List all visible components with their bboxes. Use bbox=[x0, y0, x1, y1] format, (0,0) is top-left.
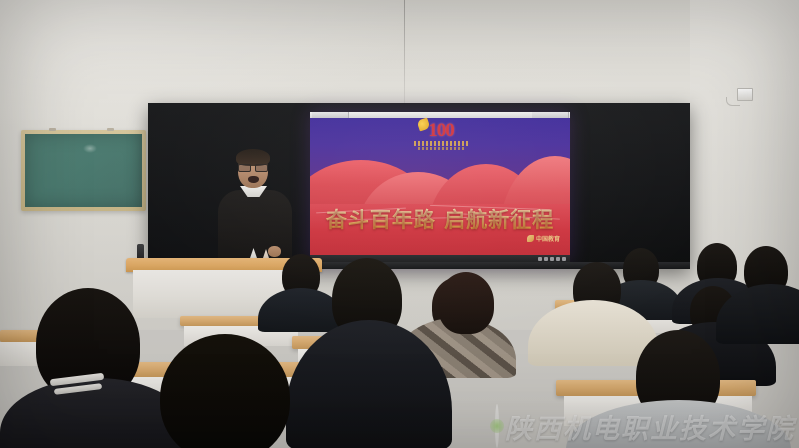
slide-window-tab bbox=[312, 112, 349, 118]
chalk-smudge bbox=[83, 144, 97, 153]
emblem-subtitle-line bbox=[414, 141, 468, 146]
wall-sensor-icon bbox=[737, 88, 753, 101]
slide-window-tab bbox=[532, 112, 569, 118]
classroom-photo: 100 奋斗百年路 启航新征程 中国教育 bbox=[0, 0, 799, 448]
chalkboard-clip bbox=[49, 128, 56, 131]
cpc-centenary-emblem: 100 bbox=[412, 118, 470, 154]
student-head bbox=[160, 334, 290, 448]
glasses-icon bbox=[238, 164, 268, 170]
taskbar-icon[interactable] bbox=[550, 257, 554, 261]
wall-seam bbox=[404, 0, 405, 112]
projected-slide[interactable]: 100 奋斗百年路 启航新征程 中国教育 bbox=[310, 112, 570, 262]
slide-corner-logo: 中国教育 bbox=[527, 234, 560, 243]
school-seal-icon bbox=[495, 404, 499, 448]
taskbar-icon[interactable] bbox=[538, 257, 542, 261]
emblem-number: 100 bbox=[412, 120, 470, 142]
slide-taskbar[interactable] bbox=[310, 255, 570, 262]
chalkboard-clip bbox=[107, 128, 114, 131]
taskbar-icon[interactable] bbox=[562, 257, 566, 261]
presenter bbox=[212, 150, 298, 268]
chalkboard-surface bbox=[25, 134, 142, 207]
slide-logo-icon bbox=[527, 235, 534, 242]
student-head bbox=[438, 272, 494, 334]
presenter-mouth bbox=[248, 176, 259, 183]
slide-title: 奋斗百年路 启航新征程 bbox=[310, 204, 570, 234]
taskbar-icon[interactable] bbox=[544, 257, 548, 261]
taskbar-icon[interactable] bbox=[556, 257, 560, 261]
taskbar-icons[interactable] bbox=[538, 257, 566, 261]
green-chalkboard bbox=[21, 130, 146, 211]
emblem-subtitle-line bbox=[418, 147, 464, 150]
presenter-hand bbox=[268, 246, 281, 257]
slide-logo-text: 中国教育 bbox=[536, 234, 560, 243]
